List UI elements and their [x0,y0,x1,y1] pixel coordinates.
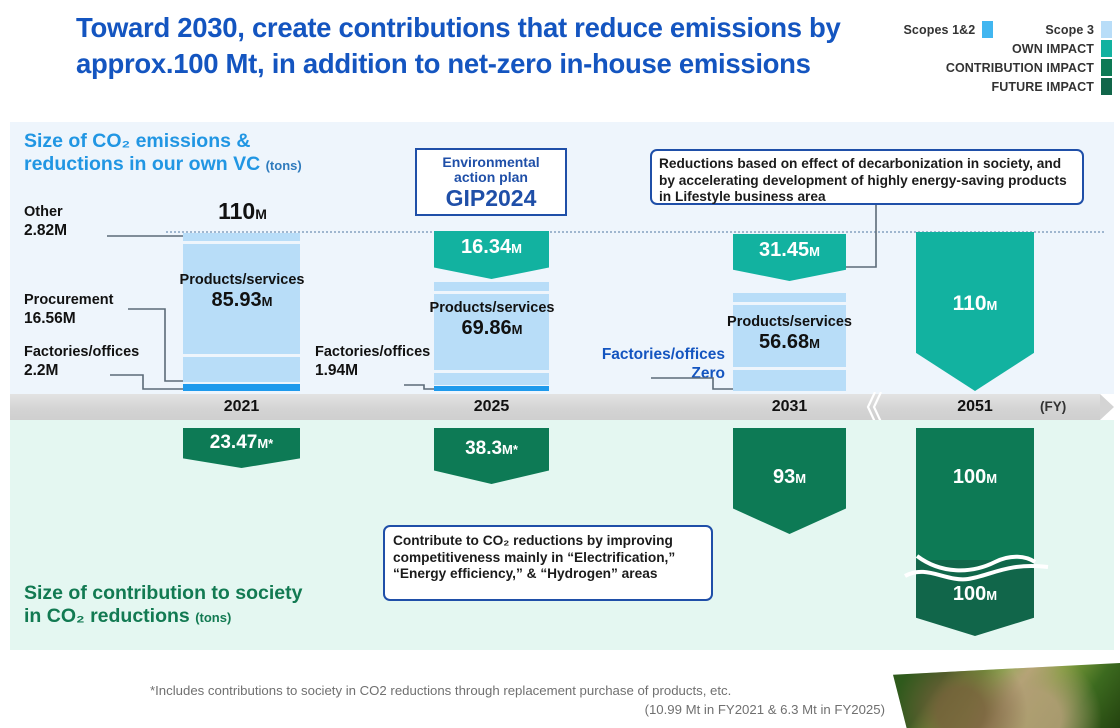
bar-2021-products-caption: Products/services [166,272,318,289]
emissions-title-line2: reductions in our own VC [24,153,260,175]
footnote-line2: (10.99 Mt in FY2021 & 6.3 Mt in FY2025) [150,700,885,719]
callout-contribution: Contribute to CO₂ reductions by improvin… [383,525,713,601]
bar-2025-products-value: 69.86M [416,317,568,340]
bar-lower-2031-text: 93M [773,466,806,489]
contribution-section-title: Size of contribution to society in CO₂ r… [24,582,444,629]
gip2024-line1: Environmental [417,155,565,170]
label-factories-2021: Factories/offices 2.2M [24,343,139,381]
legend-label-own-impact: OWN IMPACT [1012,42,1094,56]
bar-2025-seg-procurement [434,373,549,385]
bar-lower-2025-text: 38.3M* [465,438,518,460]
bar-2021-products-value: 85.93M [166,289,318,312]
legend-label-future-impact: FUTURE IMPACT [992,80,1094,94]
legend-label-scope3: Scope 3 [1045,23,1094,37]
year-axis-arrowhead [1100,394,1114,420]
contribution-title-unit: (tons) [195,610,231,625]
legend-swatch-own-impact [1101,40,1112,57]
bar-lower-2051-future-text: 100M [953,583,997,606]
legend-swatch-contribution-impact [1101,59,1112,76]
bar-2025-products-caption: Products/services [416,300,568,317]
gip2024-line3: GIP2024 [417,185,565,212]
footnote-line1: *Includes contributions to society in CO… [150,681,885,700]
bar-2021-seg-factories [183,384,300,391]
label-factories-2021-name: Factories/offices [24,344,139,360]
bar-2031-products-value: 56.68M [712,331,867,354]
label-other: Other 2.82M [24,203,67,241]
legend-row-contribution-impact: CONTRIBUTION IMPACT [862,58,1112,77]
bar-2021-products-label: Products/services 85.93M [166,272,318,312]
legend-swatch-scope3 [1101,21,1112,38]
bar-2031-products-label: Products/services 56.68M [712,314,867,354]
badge-2051-text: 110M [953,292,998,316]
legend-label-contribution-impact: CONTRIBUTION IMPACT [946,61,1094,75]
baseline-total-label: 110M [185,198,300,225]
legend: Scopes 1&2 Scope 3 OWN IMPACT CONTRIBUTI… [862,20,1112,96]
label-factories-2031-value: Zero [691,365,725,382]
bar-2021-stack [183,233,300,391]
contribution-title-line2: in CO₂ reductions [24,605,190,627]
gip2024-line2: action plan [417,170,565,185]
callout-decarbonization: Reductions based on effect of decarboniz… [650,149,1084,205]
label-procurement-name: Procurement [24,292,113,308]
label-factories-2031: Factories/offices Zero [540,346,725,384]
bar-2031-seg-other [733,293,846,302]
page-title: Toward 2030, create contributions that r… [76,10,866,82]
bar-2025-seg-other [434,282,549,291]
emissions-section-title: Size of CO₂ emissions & reductions in ou… [24,130,444,177]
slide-root: Toward 2030, create contributions that r… [0,0,1120,728]
label-factories-2031-name: Factories/offices [602,346,725,363]
axis-break-mark [862,392,884,422]
forest-path-photo [893,663,1120,728]
bar-lower-2051-contribution-text: 100M [953,466,997,489]
emissions-title-unit: (tons) [266,158,302,173]
axis-year-2051: 2051 [916,398,1034,416]
axis-unit-fy: (FY) [1040,399,1066,414]
legend-swatch-future-impact [1101,78,1112,95]
label-factories-2025-value: 1.94M [315,362,358,379]
label-procurement: Procurement 16.56M [24,291,113,329]
bar-lower-2051-contribution: 100M [916,428,1034,573]
label-factories-2025-name: Factories/offices [315,344,430,360]
label-procurement-value: 16.56M [24,310,76,327]
label-factories-2021-value: 2.2M [24,362,58,379]
baseline-total-value: 110 [218,198,255,224]
bar-lower-2021-text: 23.47M* [210,432,273,454]
legend-swatch-scopes12 [982,21,993,38]
bar-2021-seg-other [183,233,300,241]
label-factories-2025: Factories/offices 1.94M [315,343,430,381]
label-other-name: Other [24,204,63,220]
badge-2031-text: 31.45M [759,239,820,262]
badge-2025-text: 16.34M [461,236,522,259]
bar-2031-products-caption: Products/services [712,314,867,331]
legend-row-scopes: Scopes 1&2 Scope 3 [862,20,1112,39]
label-other-value: 2.82M [24,222,67,239]
legend-label-scopes12: Scopes 1&2 [903,23,975,37]
bar-2021-seg-procurement [183,357,300,382]
contribution-title-line1: Size of contribution to society [24,582,302,604]
axis-year-2025: 2025 [434,398,549,416]
bar-2025-products-label: Products/services 69.86M [416,300,568,340]
legend-row-future-impact: FUTURE IMPACT [862,77,1112,96]
axis-year-2021: 2021 [183,398,300,416]
bar-2025-seg-factories [434,386,549,391]
bar-2031-seg-procurement [733,370,846,391]
axis-year-2031: 2031 [733,398,846,416]
gip2024-box: Environmental action plan GIP2024 [415,148,567,216]
legend-row-own-impact: OWN IMPACT [862,39,1112,58]
baseline-total-unit: M [255,206,267,222]
footnote: *Includes contributions to society in CO… [150,681,885,719]
emissions-title-line1: Size of CO₂ emissions & [24,130,250,152]
